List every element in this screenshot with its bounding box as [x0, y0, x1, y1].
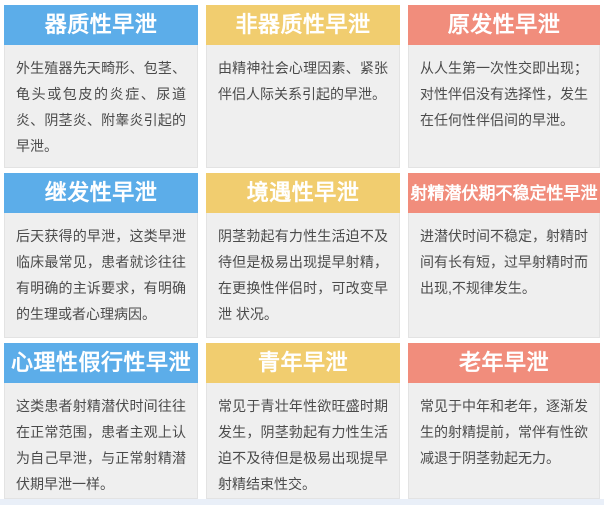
card-elderly-pe[interactable]: 老年早泄 常见于中年和老年，逐渐发生的射精提前，常伴有性欲减退于阴茎勃起无力。	[408, 343, 600, 499]
card-unstable-latency-pe[interactable]: 射精潜伏期不稳定性早泄 进潜伏时间不稳定，射精时间有长有短，过早射精时而出现,不…	[408, 173, 600, 338]
card-body-youth-pe: 常见于青壮年性欲旺盛时期发生，阴茎勃起有力性生活迫不及待但是极易出现提早射精结束…	[206, 383, 400, 499]
card-header-situational-pe: 境遇性早泄	[206, 173, 400, 213]
card-header-non-organic-pe: 非器质性早泄	[206, 5, 400, 45]
grid-cell: 射精潜伏期不稳定性早泄 进潜伏时间不稳定，射精时间有长有短，过早射精时而出现,不…	[404, 168, 604, 338]
card-header-primary-pe: 原发性早泄	[408, 5, 600, 45]
grid-cell: 老年早泄 常见于中年和老年，逐渐发生的射精提前，常伴有性欲减退于阴茎勃起无力。	[404, 338, 604, 499]
card-body-psychogenic-pseudo-pe: 这类患者射精潜伏时间往往在正常范围，患者主观上认为自己早泄，与正常射精潜伏期早泄…	[4, 383, 198, 499]
card-header-elderly-pe: 老年早泄	[408, 343, 600, 383]
page-root: 器质性早泄 外生殖器先天畸形、包茎、龟头或包皮的炎症、尿道炎、阴茎炎、附睾炎引起…	[0, 0, 604, 505]
card-grid: 器质性早泄 外生殖器先天畸形、包茎、龟头或包皮的炎症、尿道炎、阴茎炎、附睾炎引起…	[0, 0, 604, 499]
card-body-secondary-pe: 后天获得的早泄，这类早泄临床最常见，患者就诊往往有明确的主诉要求，有明确的生理或…	[4, 213, 198, 338]
card-psychogenic-pseudo-pe[interactable]: 心理性假行性早泄 这类患者射精潜伏时间往往在正常范围，患者主观上认为自己早泄，与…	[4, 343, 198, 499]
card-secondary-pe[interactable]: 继发性早泄 后天获得的早泄，这类早泄临床最常见，患者就诊往往有明确的主诉要求，有…	[4, 173, 198, 338]
grid-cell: 继发性早泄 后天获得的早泄，这类早泄临床最常见，患者就诊往往有明确的主诉要求，有…	[0, 168, 202, 338]
grid-cell: 器质性早泄 外生殖器先天畸形、包茎、龟头或包皮的炎症、尿道炎、阴茎炎、附睾炎引起…	[0, 0, 202, 168]
bottom-strip	[0, 499, 604, 505]
grid-cell: 青年早泄 常见于青壮年性欲旺盛时期发生，阴茎勃起有力性生活迫不及待但是极易出现提…	[202, 338, 404, 499]
card-organic-pe[interactable]: 器质性早泄 外生殖器先天畸形、包茎、龟头或包皮的炎症、尿道炎、阴茎炎、附睾炎引起…	[4, 5, 198, 168]
grid-cell: 非器质性早泄 由精神社会心理因素、紧张伴侣人际关系引起的早泄。	[202, 0, 404, 168]
card-body-non-organic-pe: 由精神社会心理因素、紧张伴侣人际关系引起的早泄。	[206, 45, 400, 168]
card-youth-pe[interactable]: 青年早泄 常见于青壮年性欲旺盛时期发生，阴茎勃起有力性生活迫不及待但是极易出现提…	[206, 343, 400, 499]
card-header-secondary-pe: 继发性早泄	[4, 173, 198, 213]
card-body-elderly-pe: 常见于中年和老年，逐渐发生的射精提前，常伴有性欲减退于阴茎勃起无力。	[408, 383, 600, 499]
card-body-primary-pe: 从人生第一次性交即出现；对性伴侣没有选择性，发生在任何性伴侣间的早泄。	[408, 45, 600, 168]
grid-cell: 心理性假行性早泄 这类患者射精潜伏时间往往在正常范围，患者主观上认为自己早泄，与…	[0, 338, 202, 499]
card-header-unstable-latency-pe: 射精潜伏期不稳定性早泄	[408, 173, 600, 213]
grid-cell: 境遇性早泄 阴茎勃起有力性生活迫不及待但是极易出现提早射精，在更换性伴侣时，可改…	[202, 168, 404, 338]
card-situational-pe[interactable]: 境遇性早泄 阴茎勃起有力性生活迫不及待但是极易出现提早射精，在更换性伴侣时，可改…	[206, 173, 400, 338]
card-primary-pe[interactable]: 原发性早泄 从人生第一次性交即出现；对性伴侣没有选择性，发生在任何性伴侣间的早泄…	[408, 5, 600, 168]
card-body-organic-pe: 外生殖器先天畸形、包茎、龟头或包皮的炎症、尿道炎、阴茎炎、附睾炎引起的早泄。	[4, 45, 198, 168]
card-body-unstable-latency-pe: 进潜伏时间不稳定，射精时间有长有短，过早射精时而出现,不规律发生。	[408, 213, 600, 338]
card-header-organic-pe: 器质性早泄	[4, 5, 198, 45]
card-body-situational-pe: 阴茎勃起有力性生活迫不及待但是极易出现提早射精，在更换性伴侣时，可改变早泄 状况…	[206, 213, 400, 338]
card-header-psychogenic-pseudo-pe: 心理性假行性早泄	[4, 343, 198, 383]
card-header-youth-pe: 青年早泄	[206, 343, 400, 383]
card-non-organic-pe[interactable]: 非器质性早泄 由精神社会心理因素、紧张伴侣人际关系引起的早泄。	[206, 5, 400, 168]
grid-cell: 原发性早泄 从人生第一次性交即出现；对性伴侣没有选择性，发生在任何性伴侣间的早泄…	[404, 0, 604, 168]
